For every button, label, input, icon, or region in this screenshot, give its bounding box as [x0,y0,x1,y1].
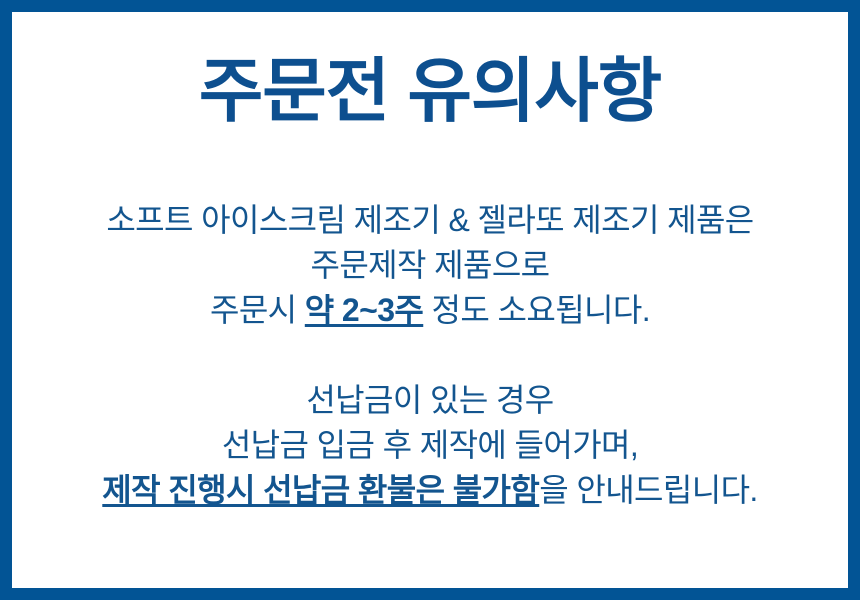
notice-line: 주문시 약 2~3주 정도 소요됩니다. [12,288,848,333]
emphasis-text: 제작 진행시 선납금 환불은 불가함 [102,472,539,508]
notice-text: 정도 소요됩니다. [423,292,650,328]
notice-text: 선납금 입금 후 제작에 들어가며, [222,427,638,463]
notice-text: 선납금이 있는 경우 [306,382,553,418]
notice-text: 주문시 [210,292,305,328]
notice-banner: 주문전 유의사항 소프트 아이스크림 제조기 & 젤라또 제조기 제품은주문제작… [0,0,860,600]
notice-line: 소프트 아이스크림 제조기 & 젤라또 제조기 제품은 [12,198,848,243]
notice-text: 을 안내드립니다. [539,472,757,508]
emphasis-text: 약 2~3주 [305,292,423,328]
notice-content-area: 주문전 유의사항 소프트 아이스크림 제조기 & 젤라또 제조기 제품은주문제작… [12,12,848,588]
notice-text: 주문제작 제품으로 [310,247,549,283]
notice-text: 소프트 아이스크림 제조기 & 젤라또 제조기 제품은 [106,202,753,238]
notice-paragraph: 선납금이 있는 경우선납금 입금 후 제작에 들어가며,제작 진행시 선납금 환… [12,378,848,513]
notice-body: 소프트 아이스크림 제조기 & 젤라또 제조기 제품은주문제작 제품으로주문시 … [12,198,848,513]
page-title: 주문전 유의사항 [199,56,661,126]
notice-line: 선납금 입금 후 제작에 들어가며, [12,423,848,468]
notice-paragraph: 소프트 아이스크림 제조기 & 젤라또 제조기 제품은주문제작 제품으로주문시 … [12,198,848,333]
notice-line: 선납금이 있는 경우 [12,378,848,423]
notice-line: 제작 진행시 선납금 환불은 불가함을 안내드립니다. [12,468,848,513]
notice-line: 주문제작 제품으로 [12,243,848,288]
